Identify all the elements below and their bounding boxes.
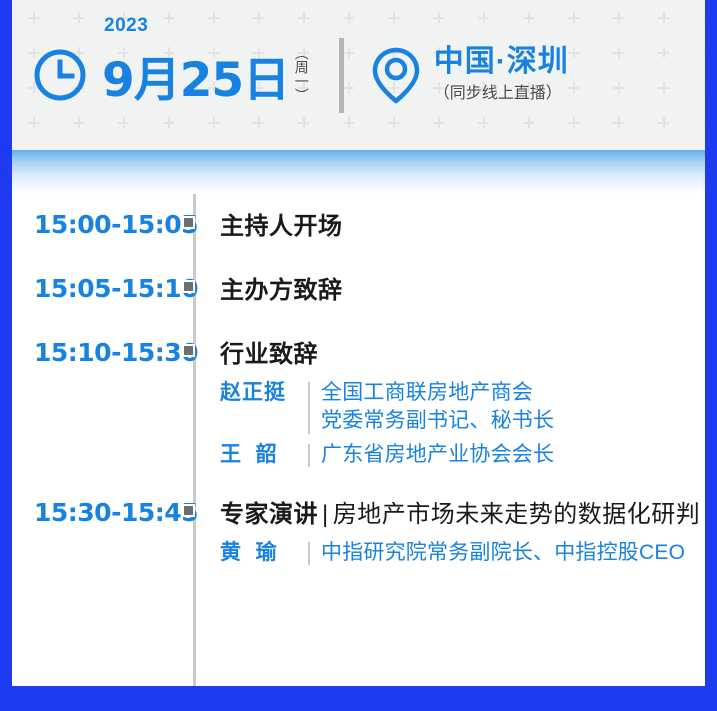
speaker-org: 中指研究院常务副院长、中指控股CEO <box>321 539 705 567</box>
agenda-title: 主办方致辞 <box>220 276 705 306</box>
speaker-org-line: 中指研究院常务副院长、中指控股CEO <box>321 539 705 567</box>
agenda-content: 主持人开场 <box>195 212 705 242</box>
agenda-time: 15:00-15:05 <box>12 212 177 237</box>
agenda-title-separator: | <box>322 501 329 528</box>
speaker-org-line: 广东省房地产业协会会长 <box>321 441 705 469</box>
clock-icon <box>32 47 88 103</box>
speaker-org-line: 党委常务副书记、秘书长 <box>321 407 705 435</box>
agenda-time: 15:05-15:10 <box>12 276 177 301</box>
event-location-block: 中国·深圳 （同步线上直播） <box>370 45 569 104</box>
agenda-marker <box>182 280 195 293</box>
agenda-row: 15:00-15:05主持人开场 <box>12 212 705 250</box>
agenda-marker <box>182 344 195 357</box>
agenda-title: 行业致辞 <box>220 340 705 370</box>
agenda-row: 15:10-15:30行业致辞赵正挺全国工商联房地产商会党委常务副书记、秘书长王… <box>12 340 705 474</box>
speaker-org: 广东省房地产业协会会长 <box>321 441 705 469</box>
speaker-divider <box>308 542 310 565</box>
speaker-org-line: 全国工商联房地产商会 <box>321 379 705 407</box>
event-city: 中国·深圳 <box>434 45 569 80</box>
location-pin-icon <box>370 46 422 104</box>
agenda-title: 专家演讲|房地产市场未来走势的数据化研判 <box>220 500 705 530</box>
speaker-divider <box>308 444 310 467</box>
header-fade-divider <box>12 150 705 194</box>
agenda-title-main: 主持人开场 <box>220 213 343 240</box>
agenda-title-main: 专家演讲 <box>220 501 318 528</box>
agenda-title-main: 主办方致辞 <box>220 277 343 304</box>
agenda-list: 15:00-15:05主持人开场15:05-15:10主办方致辞15:10-15… <box>12 194 705 572</box>
agenda-marker <box>182 504 195 517</box>
agenda-content: 行业致辞赵正挺全国工商联房地产商会党委常务副书记、秘书长王 韶广东省房地产业协会… <box>195 340 705 474</box>
poster-root: 2023 9月25日 （周一） 中国·深圳 <box>0 0 717 711</box>
agenda-time: 15:30-15:45 <box>12 500 177 525</box>
agenda-speakers: 赵正挺全国工商联房地产商会党委常务副书记、秘书长王 韶广东省房地产业协会会长 <box>220 379 705 469</box>
agenda-title: 主持人开场 <box>220 212 705 242</box>
speaker-entry: 赵正挺全国工商联房地产商会党委常务副书记、秘书长 <box>220 379 705 436</box>
agenda-row: 15:05-15:10主办方致辞 <box>12 276 705 314</box>
speaker-name: 赵正挺 <box>220 379 300 407</box>
speaker-entry: 王 韶广东省房地产业协会会长 <box>220 441 705 469</box>
agenda-title-detail: 房地产市场未来走势的数据化研判 <box>333 501 701 528</box>
agenda-time: 15:10-15:30 <box>12 340 177 365</box>
event-year: 2023 <box>104 16 148 35</box>
speaker-divider <box>308 382 310 434</box>
event-date: 9月25日 <box>102 57 289 104</box>
poster-card: 2023 9月25日 （周一） 中国·深圳 <box>12 0 705 686</box>
agenda-speakers: 黄 瑜中指研究院常务副院长、中指控股CEO <box>220 539 705 567</box>
speaker-name: 黄 瑜 <box>220 539 300 567</box>
agenda-row: 15:30-15:45专家演讲|房地产市场未来走势的数据化研判黄 瑜中指研究院常… <box>12 500 705 572</box>
agenda-marker <box>182 216 195 229</box>
event-date-block: 2023 9月25日 （周一） <box>32 46 309 104</box>
speaker-entry: 黄 瑜中指研究院常务副院长、中指控股CEO <box>220 539 705 567</box>
event-weekday: （周一） <box>294 46 309 102</box>
agenda-title-main: 行业致辞 <box>220 341 318 368</box>
event-header: 2023 9月25日 （周一） 中国·深圳 <box>12 0 705 150</box>
agenda-content: 主办方致辞 <box>195 276 705 306</box>
agenda-content: 专家演讲|房地产市场未来走势的数据化研判黄 瑜中指研究院常务副院长、中指控股CE… <box>195 500 705 572</box>
speaker-org: 全国工商联房地产商会党委常务副书记、秘书长 <box>321 379 705 436</box>
speaker-name: 王 韶 <box>220 441 300 469</box>
header-divider <box>339 38 344 113</box>
event-live-note: （同步线上直播） <box>434 84 569 105</box>
